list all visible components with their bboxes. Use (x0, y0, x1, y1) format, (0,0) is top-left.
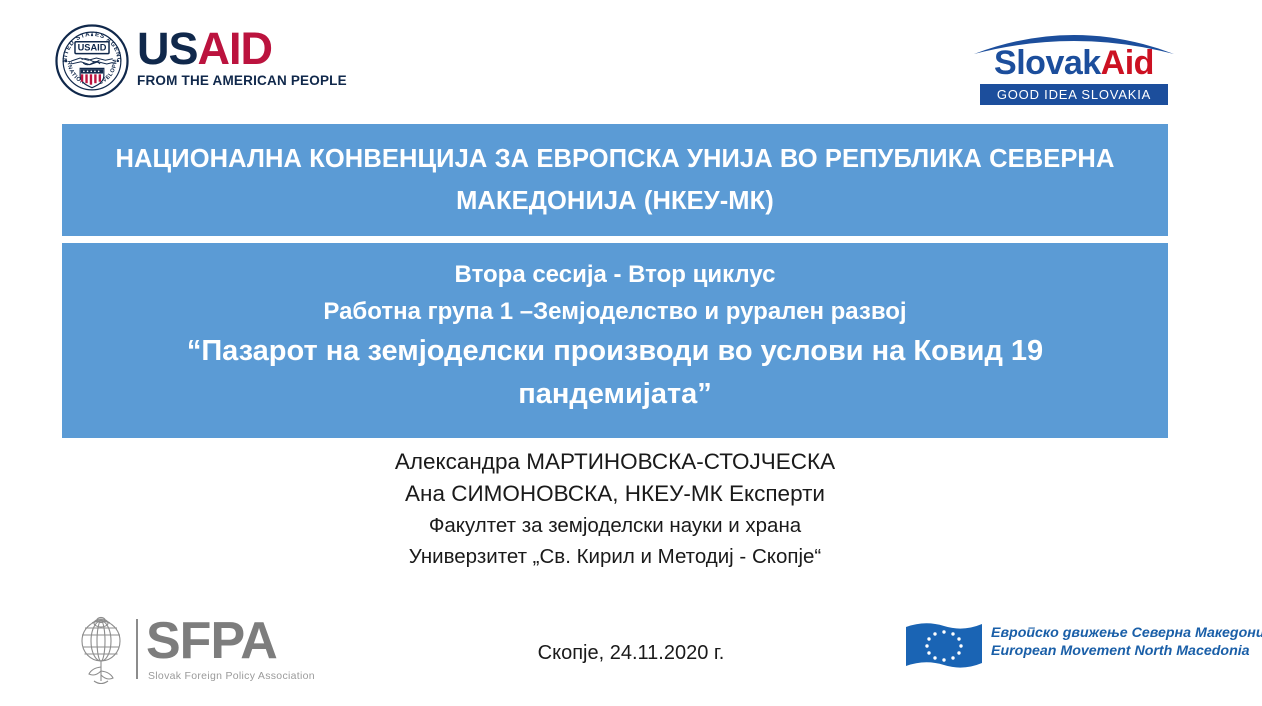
usaid-logo: UNITED STATES AGENCY INTERNATIONAL DEVEL… (55, 22, 305, 104)
slovakaid-logo: SlovakAid GOOD IDEA SLOVAKIA (966, 14, 1182, 106)
title-band: НАЦИОНАЛНА КОНВЕНЦИЈА ЗА ЕВРОПСКА УНИЈА … (62, 124, 1168, 236)
author-faculty: Факултет за земјоделски науки и храна (62, 510, 1168, 541)
slovakaid-slogan-bar: GOOD IDEA SLOVAKIA (980, 84, 1168, 105)
presentation-slide: UNITED STATES AGENCY INTERNATIONAL DEVEL… (0, 0, 1262, 706)
usaid-word-us: US (137, 23, 198, 74)
sfpa-logo: SFPA Slovak Foreign Policy Association (70, 613, 290, 689)
usaid-word: USAID (137, 26, 305, 72)
subtitle-line-session: Втора сесија - Втор циклус (82, 256, 1148, 293)
usaid-word-aid: AID (198, 23, 273, 74)
slovakaid-word-aid: Aid (1101, 44, 1154, 82)
european-movement-line-en: European Movement North Macedonia (991, 643, 1262, 661)
slovakaid-word-slovak: Slovak (994, 44, 1101, 82)
svg-text:USAID: USAID (78, 43, 107, 53)
sfpa-divider (136, 619, 138, 679)
sfpa-acronym: SFPA (146, 613, 277, 669)
authors-block: Александра МАРТИНОВСКА-СТОЈЧЕСКА Ана СИМ… (62, 446, 1168, 572)
subtitle-line-topic-1: “Пазарот на земјоделски производи во усл… (82, 330, 1148, 373)
author-university: Универзитет „Св. Кирил и Методиј - Скопј… (62, 541, 1168, 572)
european-movement-line-mk: Европско движење Северна Македонија (991, 625, 1262, 643)
eu-flag-icon (903, 619, 985, 673)
subtitle-line-workgroup: Работна група 1 –Земјоделство и рурален … (82, 293, 1148, 330)
author-name-1: Александра МАРТИНОВСКА-СТОЈЧЕСКА (62, 446, 1168, 478)
european-movement-logo: Европско движење Северна Македонија Euro… (903, 615, 1213, 677)
sfpa-subtitle: Slovak Foreign Policy Association (148, 670, 315, 682)
usaid-seal-icon: UNITED STATES AGENCY INTERNATIONAL DEVEL… (55, 24, 129, 98)
sfpa-globe-rose-icon (70, 615, 132, 687)
usaid-wordmark: USAID FROM THE AMERICAN PEOPLE (137, 26, 305, 89)
european-movement-text: Европско движење Северна Македонија Euro… (991, 625, 1262, 660)
slovakaid-wordmark: SlovakAid (966, 44, 1182, 82)
author-name-2: Ана СИМОНОВСКА, НКЕУ-МК Експерти (62, 478, 1168, 510)
subtitle-line-topic-2: пандемијата” (82, 373, 1148, 416)
page-title: НАЦИОНАЛНА КОНВЕНЦИЈА ЗА ЕВРОПСКА УНИЈА … (84, 138, 1146, 222)
subtitle-band: Втора сесија - Втор циклус Работна група… (62, 243, 1168, 438)
usaid-tagline: FROM THE AMERICAN PEOPLE (137, 73, 305, 89)
